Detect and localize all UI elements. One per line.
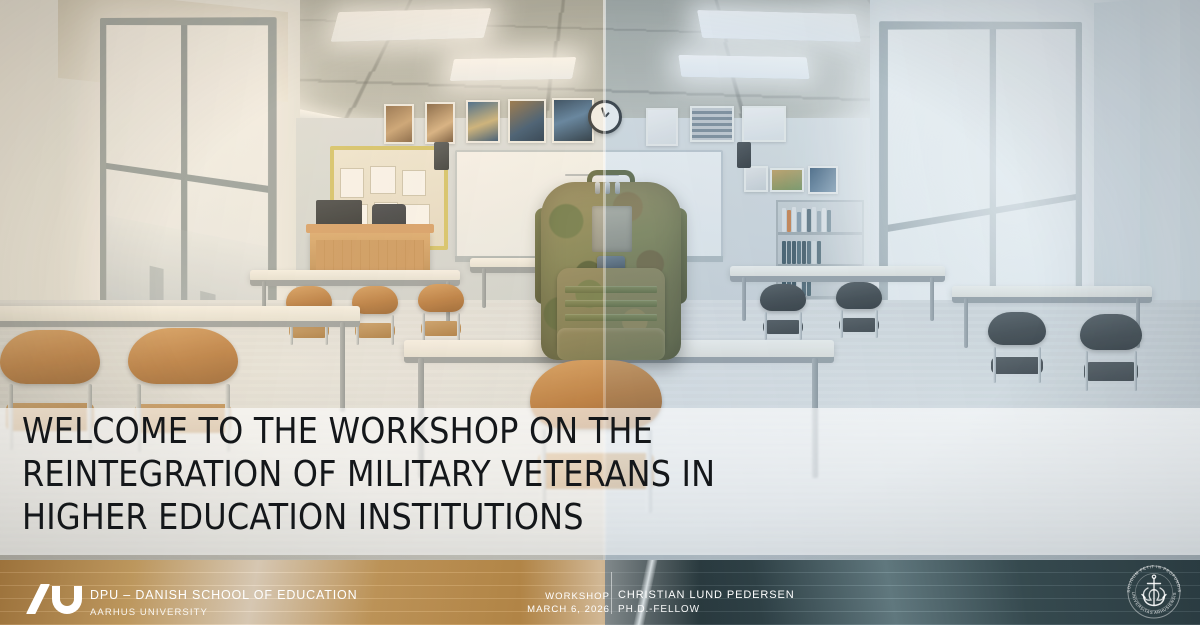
au-logo-u [52, 586, 82, 614]
aarhus-university-seal-icon: SOLIDUM PETIT IN PROFUNDIS UNIVERSITAS A… [1122, 560, 1186, 624]
title-line-1: WELCOME TO THE WORKSHOP ON THE [22, 410, 1162, 453]
footer-department: DPU – DANISH SCHOOL OF EDUCATION [90, 588, 358, 602]
page-title: WELCOME TO THE WORKSHOP ON THE REINTEGRA… [22, 410, 1162, 539]
footer-event-label: WORKSHOP [542, 591, 610, 602]
au-logo [32, 584, 86, 614]
title-line-3: HIGHER EDUCATION INSTITUTIONS [22, 496, 1162, 539]
footer-divider [611, 572, 612, 614]
footer-event-date: MARCH 6, 2026 [520, 604, 610, 615]
footer-university: AARHUS UNIVERSITY [90, 607, 208, 618]
footer-speaker-title: PH.D.-FELLOW [618, 604, 700, 615]
footer-speaker-name: CHRISTIAN LUND PEDERSEN [618, 589, 795, 601]
title-line-2: REINTEGRATION OF MILITARY VETERANS IN [22, 453, 1162, 496]
presentation-slide: WELCOME TO THE WORKSHOP ON THE REINTEGRA… [0, 0, 1200, 625]
